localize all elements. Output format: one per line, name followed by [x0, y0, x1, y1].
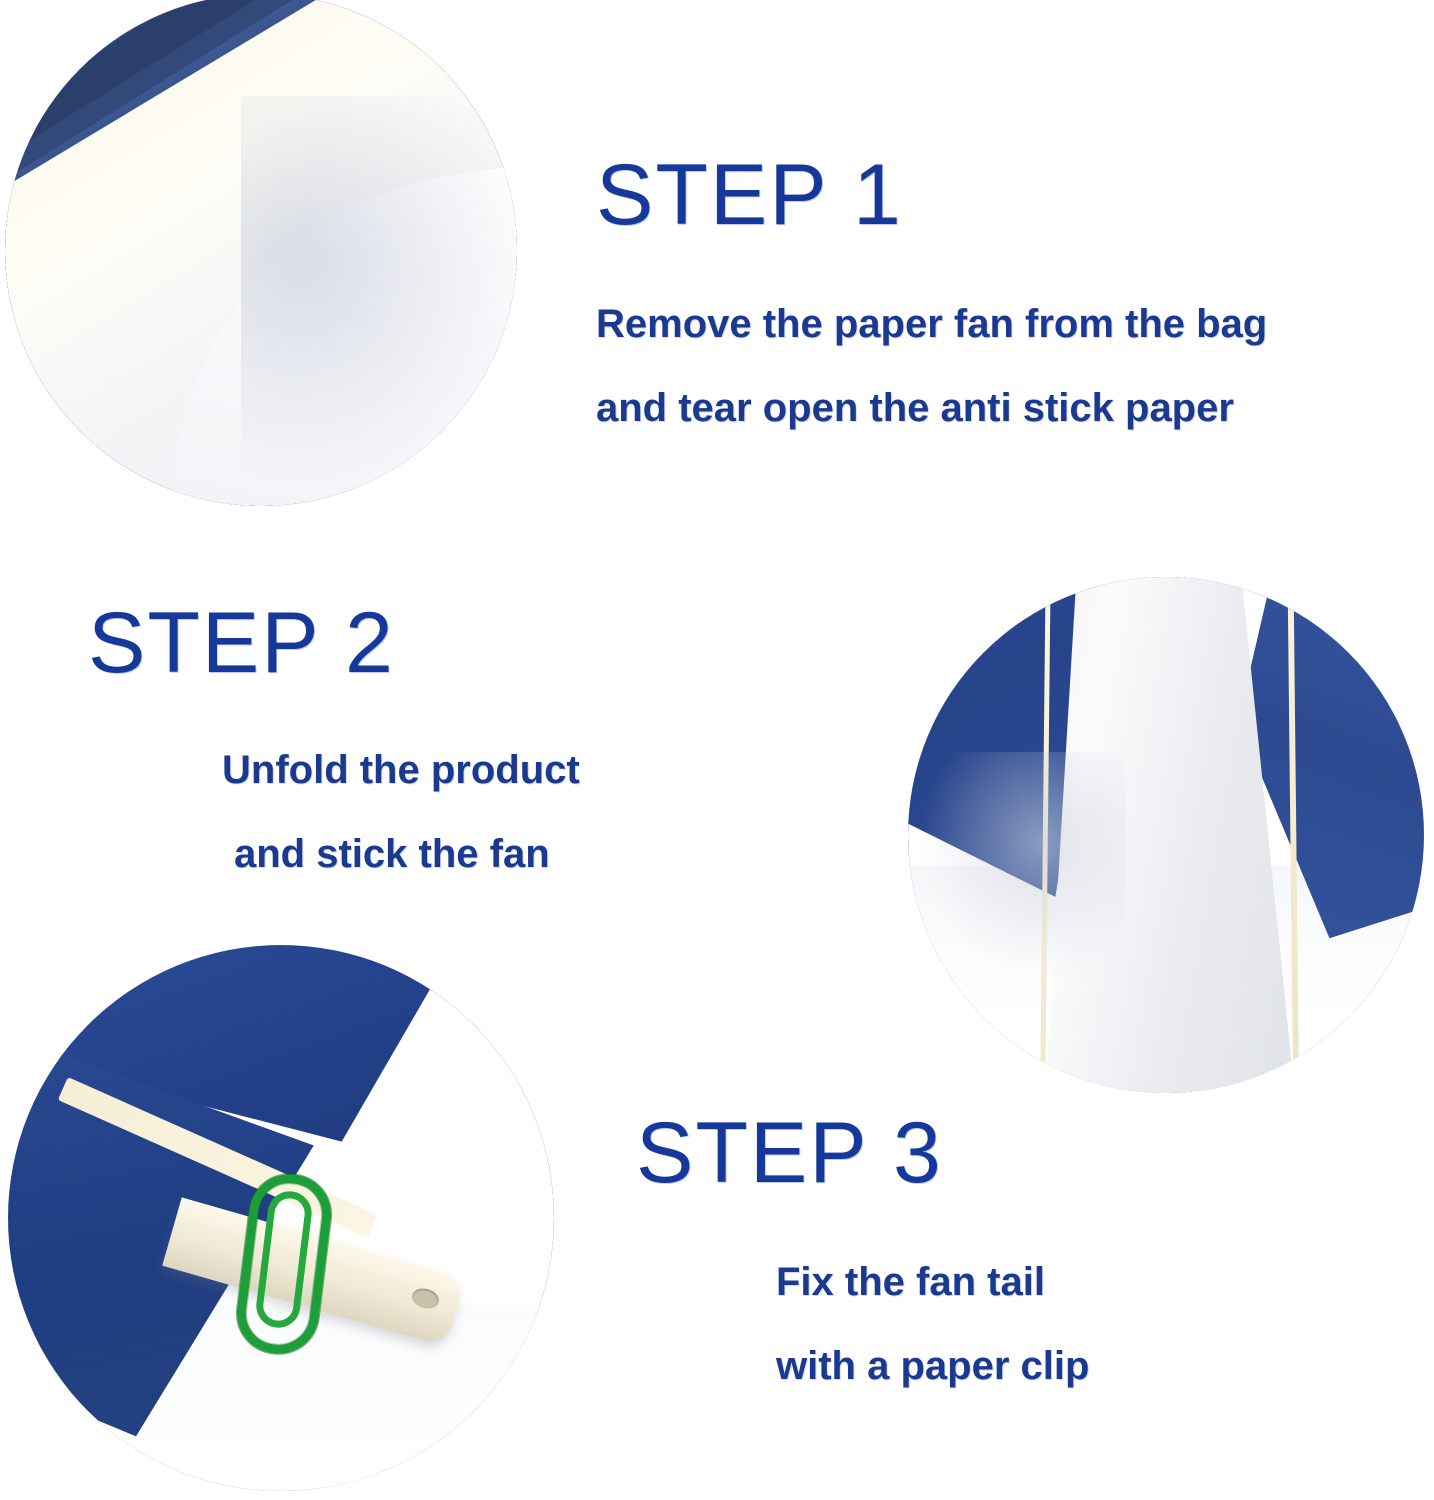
step-2-text-block: STEP 2 Unfold the product and stick the … — [88, 600, 580, 874]
step-3-line-2: with a paper clip — [776, 1346, 1089, 1386]
step-2-heading: STEP 2 — [88, 600, 580, 686]
step-3-photo-circle — [8, 945, 554, 1491]
step-1-heading: STEP 1 — [596, 152, 1267, 238]
step-1-line-1: Remove the paper fan from the bag — [596, 304, 1267, 344]
step-1-line-2: and tear open the anti stick paper — [596, 388, 1267, 428]
step-3-line-1: Fix the fan tail — [776, 1262, 1089, 1302]
fan-tail-paper-clip-photo — [8, 945, 554, 1491]
step-2-photo-circle — [908, 577, 1424, 1093]
folded-pleated-fan-photo — [5, 0, 517, 506]
instruction-poster: STEP 1 Remove the paper fan from the bag… — [0, 0, 1434, 1500]
step-1-photo-circle — [5, 0, 517, 506]
soft-shadow — [918, 752, 1124, 979]
unfolded-fan-photo — [908, 577, 1424, 1093]
step-3-heading: STEP 3 — [636, 1110, 1089, 1196]
step-3-text-block: STEP 3 Fix the fan tail with a paper cli… — [636, 1110, 1089, 1386]
step-1-text-block: STEP 1 Remove the paper fan from the bag… — [596, 152, 1267, 428]
soft-shadow — [241, 96, 517, 506]
step-2-line-1: Unfold the product — [222, 750, 580, 790]
step-2-line-2: and stick the fan — [234, 834, 580, 874]
